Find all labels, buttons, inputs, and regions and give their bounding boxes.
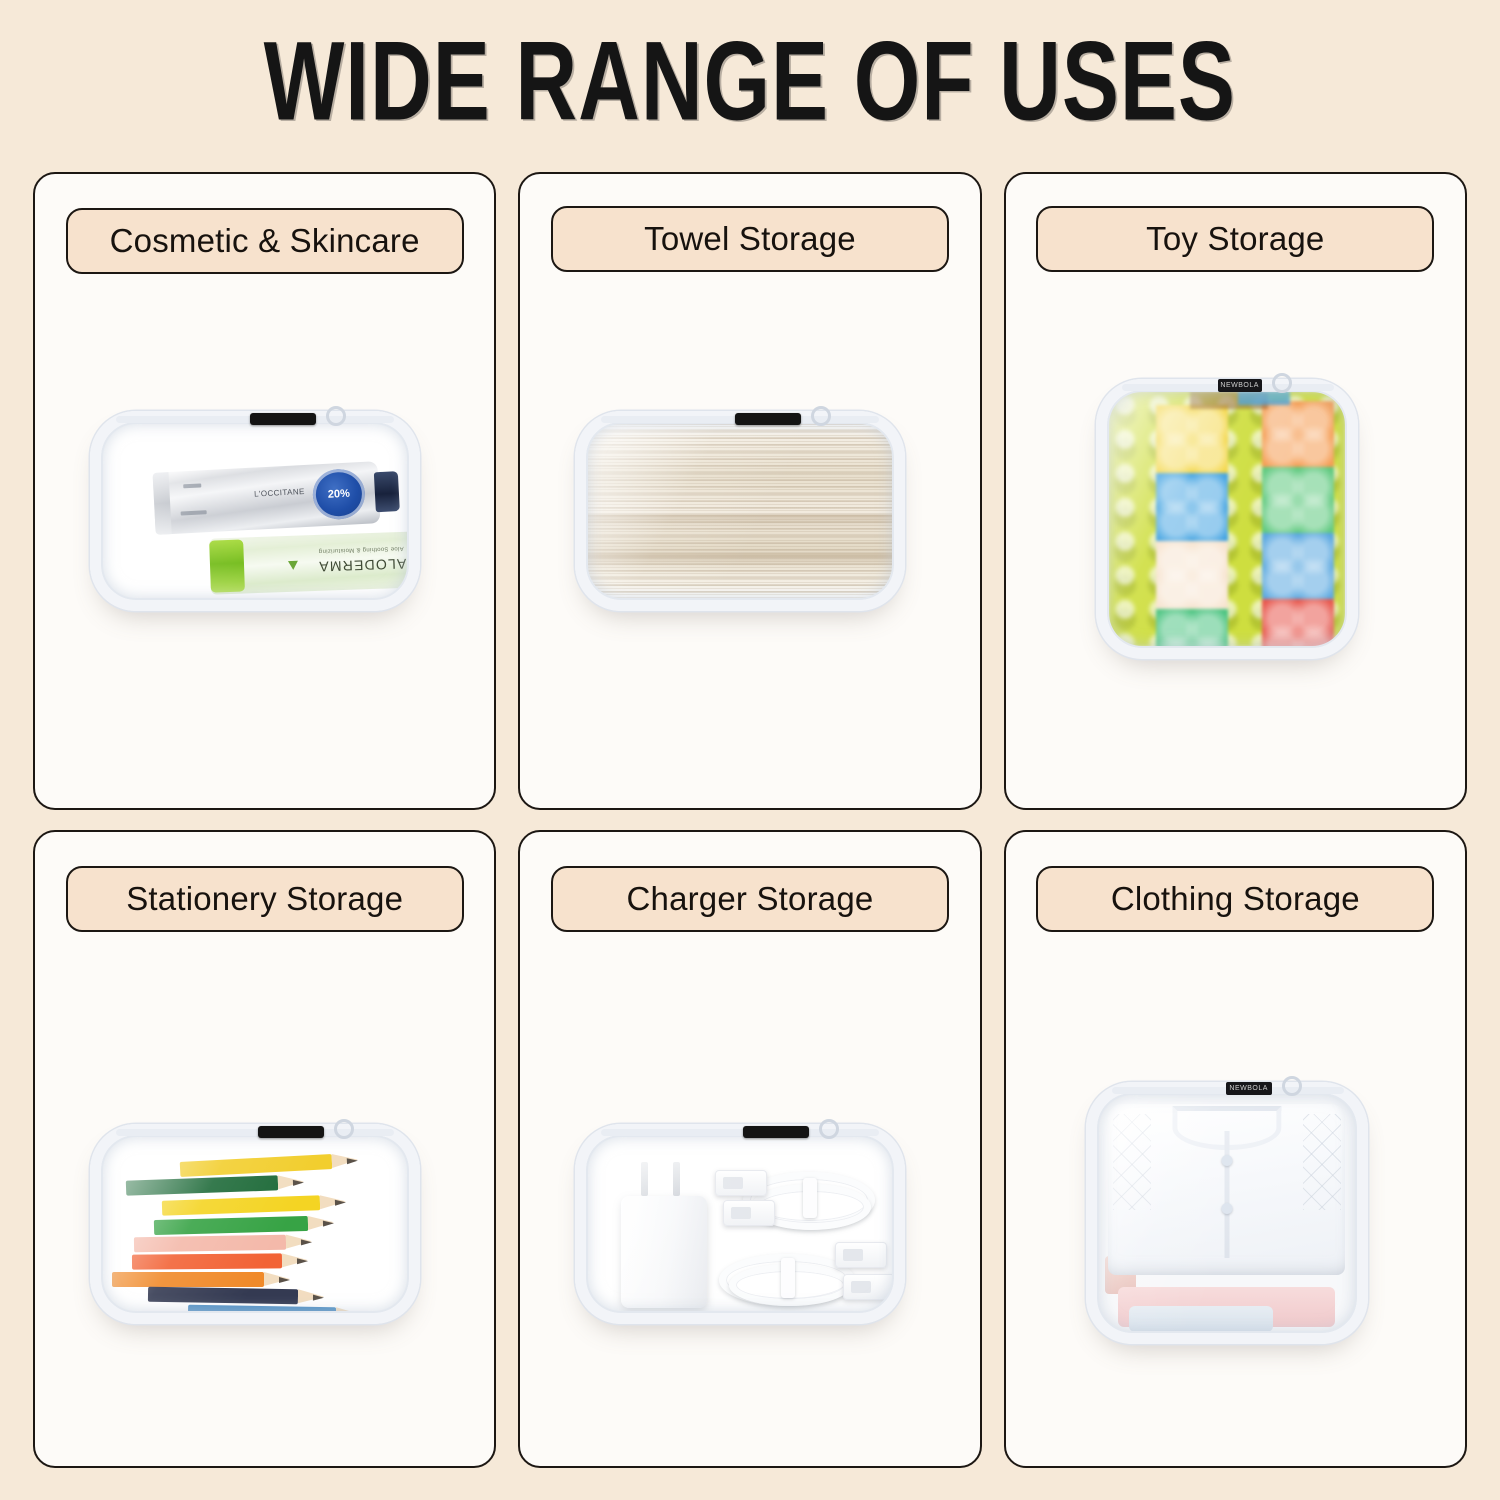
usb-cable-bundle xyxy=(705,1240,893,1312)
usb-connector xyxy=(843,1274,893,1300)
zipper-tab[interactable] xyxy=(258,1126,324,1138)
clear-zip-pouch: L'OCCITANE ▾ Aloe Soothing & Moisturizin… xyxy=(90,411,420,611)
brick-column-left xyxy=(1156,391,1228,647)
orange-red-pencil xyxy=(132,1253,282,1269)
use-card-stationery[interactable]: Stationery Storage xyxy=(33,830,496,1468)
zipper-tab[interactable] xyxy=(743,1126,809,1138)
card-label-charger: Charger Storage xyxy=(551,866,949,932)
card-label-cosmetic: Cosmetic & Skincare xyxy=(66,208,464,274)
building-bricks xyxy=(1108,391,1346,647)
towel-band xyxy=(587,553,893,567)
pouch-window xyxy=(587,423,893,599)
card-label-text: Charger Storage xyxy=(626,880,873,918)
clear-zip-pouch: NEWBOLA xyxy=(1096,379,1358,659)
aloderma-brand-mark: ALODERMA xyxy=(318,556,407,575)
brand-tag: NEWBOLA xyxy=(1218,379,1262,392)
product-photo-clothing: NEWBOLA xyxy=(1006,1062,1465,1392)
zipper-tab[interactable] xyxy=(735,413,801,425)
card-label-clothing: Clothing Storage xyxy=(1036,866,1434,932)
cable-tie xyxy=(803,1178,817,1218)
card-label-text: Towel Storage xyxy=(644,220,856,258)
brand-tag: NEWBOLA xyxy=(1226,1082,1272,1095)
shirt-placket xyxy=(1224,1131,1229,1258)
use-card-towel[interactable]: Towel Storage xyxy=(518,172,981,810)
cable-tie xyxy=(781,1258,795,1298)
dark-green-pencil xyxy=(126,1175,278,1195)
tube-cap xyxy=(209,539,245,592)
tube-crimp xyxy=(153,472,172,535)
cream-brick xyxy=(1156,541,1228,609)
product-photo-stationery xyxy=(35,1102,494,1352)
card-label-stationery: Stationery Storage xyxy=(66,866,464,932)
uses-grid: Cosmetic & Skincare L'OCCITANE ▾ xyxy=(33,172,1467,1468)
brick-column-right xyxy=(1262,391,1334,647)
zipper-tab[interactable] xyxy=(250,413,316,425)
page-header: WIDE RANGE OF USES xyxy=(0,0,1500,165)
pink-pencil xyxy=(134,1235,286,1253)
quilted-sleeve xyxy=(1303,1114,1341,1210)
red-brick xyxy=(1262,599,1334,647)
card-label-text: Clothing Storage xyxy=(1111,880,1360,918)
use-card-clothing[interactable]: Clothing Storage xyxy=(1004,830,1467,1468)
zipper-pull-icon[interactable] xyxy=(1272,373,1292,393)
card-label-text: Stationery Storage xyxy=(126,880,403,918)
product-photo-charger xyxy=(520,1102,979,1352)
white-folded-shirt xyxy=(1108,1104,1345,1275)
loccitane-brand-mark: L'OCCITANE xyxy=(254,487,305,499)
use-card-toy[interactable]: Toy Storage xyxy=(1004,172,1467,810)
folded-clothing xyxy=(1098,1094,1356,1332)
page-title: WIDE RANGE OF USES xyxy=(264,18,1236,146)
charger-prong xyxy=(673,1162,680,1196)
quilted-sleeve xyxy=(1113,1114,1151,1210)
wall-charger-adapter xyxy=(621,1196,707,1308)
clear-zip-pouch: NEWBOLA xyxy=(1086,1082,1368,1344)
zipper-pull-icon[interactable] xyxy=(1282,1076,1302,1096)
loccitane-tube: L'OCCITANE xyxy=(153,461,381,535)
green-pencil xyxy=(154,1216,308,1235)
blue-folded-garment xyxy=(1129,1306,1273,1332)
loccitane-seal-badge xyxy=(312,468,367,521)
aloe-leaf-icon: ▾ xyxy=(288,553,299,576)
use-card-charger[interactable]: Charger Storage xyxy=(518,830,981,1468)
orange-pencil xyxy=(112,1272,264,1287)
product-photo-cosmetic: L'OCCITANE ▾ Aloe Soothing & Moisturizin… xyxy=(35,389,494,639)
usb-cable-bundle xyxy=(715,1164,893,1244)
shirt-button xyxy=(1221,1155,1232,1166)
towel-band xyxy=(587,515,893,529)
card-label-text: Toy Storage xyxy=(1146,220,1324,258)
usb-connector xyxy=(835,1242,887,1268)
product-photo-toy: NEWBOLA xyxy=(1006,359,1465,689)
tube-weight-mark xyxy=(181,510,207,515)
card-label-text: Cosmetic & Skincare xyxy=(110,222,420,260)
zipper-pull-icon[interactable] xyxy=(326,406,346,426)
card-label-towel: Towel Storage xyxy=(551,206,949,272)
pouch-window xyxy=(1108,391,1346,647)
yellow-pencil xyxy=(162,1195,320,1216)
clear-zip-pouch xyxy=(575,411,905,611)
yellow-brick xyxy=(1156,405,1228,473)
zipper-pull-icon[interactable] xyxy=(334,1119,354,1139)
folded-towel xyxy=(587,423,893,599)
aloderma-tube: ▾ Aloe Soothing & Moisturizing ALODERMA xyxy=(209,531,408,594)
blue-brick xyxy=(1156,473,1228,541)
blue-brick-edge xyxy=(1238,391,1290,405)
aloderma-subtitle: Aloe Soothing & Moisturizing xyxy=(318,545,403,554)
shirt-button xyxy=(1221,1203,1232,1214)
blue-brick xyxy=(1262,533,1334,599)
yellow-pencil xyxy=(180,1154,333,1177)
colored-pencils xyxy=(102,1136,408,1312)
product-photo-towel xyxy=(520,389,979,639)
pouch-window xyxy=(1098,1094,1356,1332)
blue-pencil xyxy=(188,1305,336,1312)
usb-connector xyxy=(715,1170,767,1196)
clear-zip-pouch xyxy=(575,1124,905,1324)
green-brick xyxy=(1262,467,1334,533)
tube-volume-mark xyxy=(183,483,201,488)
tube-cap xyxy=(374,471,400,512)
charger-prong xyxy=(641,1162,648,1196)
pouch-window: L'OCCITANE ▾ Aloe Soothing & Moisturizin… xyxy=(102,423,408,599)
card-label-toy: Toy Storage xyxy=(1036,206,1434,272)
orange-brick xyxy=(1262,401,1334,467)
pouch-window xyxy=(102,1136,408,1312)
navy-pencil xyxy=(148,1287,298,1305)
green-brick xyxy=(1156,609,1228,647)
pouch-window xyxy=(587,1136,893,1312)
usb-connector xyxy=(723,1200,775,1226)
clear-zip-pouch xyxy=(90,1124,420,1324)
use-card-cosmetic[interactable]: Cosmetic & Skincare L'OCCITANE ▾ xyxy=(33,172,496,810)
